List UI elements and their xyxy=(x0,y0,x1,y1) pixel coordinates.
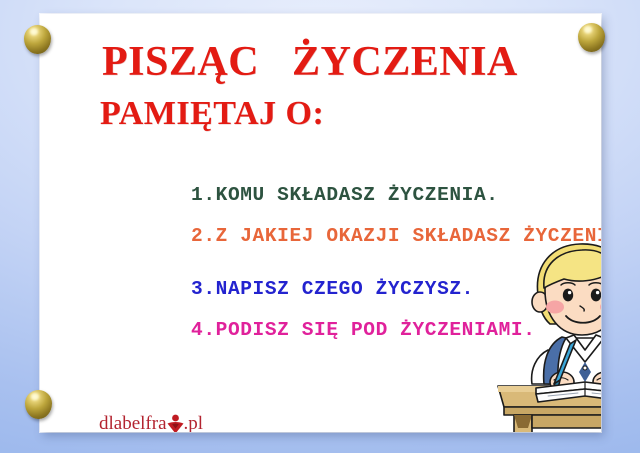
list-item-number: 1. xyxy=(191,184,216,206)
list-item: 4.PODISZ SIĘ POD ŻYCZENIAMI. xyxy=(68,301,536,360)
screw-top-left xyxy=(24,25,51,54)
screw-top-right xyxy=(578,23,605,52)
list-item-label: KOMU SKŁADASZ ŻYCZENIA. xyxy=(216,184,499,206)
watermark-text-after: .pl xyxy=(184,414,204,433)
list-item-label: PODISZ SIĘ POD ŻYCZENIAMI. xyxy=(216,319,536,341)
watermark-text-before: dlabelfra xyxy=(99,414,167,433)
list-item-number: 4. xyxy=(191,319,216,341)
whiteboard-panel: PISZĄC ŻYCZENIA PAMIĘTAJ O: 1.KOMU SKŁAD… xyxy=(40,14,601,432)
screw-bottom-left xyxy=(25,390,52,419)
list-item-number: 2. xyxy=(191,225,216,247)
list-item-number: 3. xyxy=(191,278,216,300)
watermark: dlabelfra .pl xyxy=(99,413,203,432)
boy-writing-at-desk-illustration xyxy=(492,232,601,432)
poster-root: PISZĄC ŻYCZENIA PAMIĘTAJ O: 1.KOMU SKŁAD… xyxy=(0,0,640,453)
page-title-line-1: PISZĄC ŻYCZENIA xyxy=(102,41,518,83)
red-figure-logo-icon xyxy=(166,414,185,432)
page-title-line-2: PAMIĘTAJ O: xyxy=(100,97,324,131)
whiteboard-content: PISZĄC ŻYCZENIA PAMIĘTAJ O: 1.KOMU SKŁAD… xyxy=(40,14,601,432)
list-item-label: NAPISZ CZEGO ŻYCZYSZ. xyxy=(216,278,474,300)
